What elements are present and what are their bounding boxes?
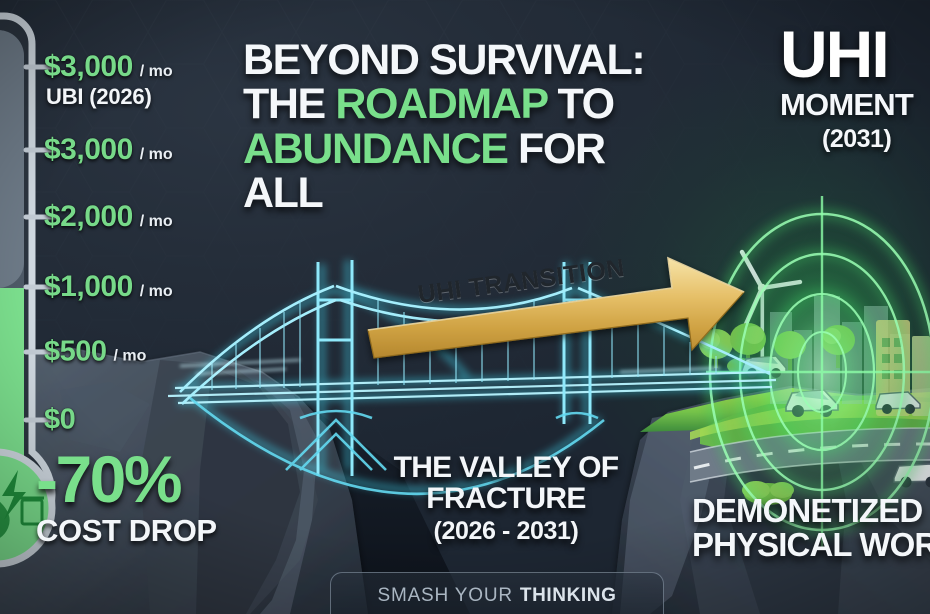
headline-line-2-pre: THE xyxy=(243,80,335,128)
uhi-moment-block: UHI MOMENT (2031) xyxy=(780,24,930,154)
footer-brand-plaque: SMASH YOUR THINKING xyxy=(330,572,664,614)
cost-drop-percent: -70% xyxy=(36,448,276,511)
gauge-tick-label-2: $2,000 / mo xyxy=(44,200,173,234)
gauge-tick-unit: / mo xyxy=(140,63,173,81)
cost-drop-block: -70% COST DROP xyxy=(36,448,276,549)
headline-line-4: ALL xyxy=(243,171,713,215)
gauge-tick-label-1: $3,000 / mo xyxy=(44,133,173,167)
gauge-tick-amount: $500 xyxy=(44,336,107,369)
gauge-tick-amount: $3,000 xyxy=(44,133,133,167)
footer-brand-light: SMASH YOUR xyxy=(377,585,512,607)
demonetized-caption: DEMONETIZED PHYSICAL WORLD xyxy=(692,494,930,561)
gauge-tick-label-3: $1,000 / mo xyxy=(44,270,173,304)
gauge-tick-label-5: $0 xyxy=(44,404,75,437)
headline-line-2-post: TO xyxy=(547,80,614,128)
gauge-tick-label-0: $3,000 / mo xyxy=(44,50,173,84)
gauge-tick-unit: / mo xyxy=(140,146,173,164)
uhi-moment-subtitle: MOMENT xyxy=(780,87,930,123)
uhi-moment-title: UHI xyxy=(780,24,930,85)
valley-line-2: FRACTURE xyxy=(356,483,656,514)
headline-line-3-post: FOR xyxy=(508,125,605,173)
valley-of-fracture-caption: THE VALLEY OF FRACTURE (2026 - 2031) xyxy=(356,452,656,546)
gauge-tick-amount: $2,000 xyxy=(44,200,133,234)
headline-accent-abundance: ABUNDANCE xyxy=(243,125,508,173)
headline-line-2: THE ROADMAP TO xyxy=(243,82,713,126)
gauge-tick-unit: / mo xyxy=(140,283,173,301)
demonetized-line-2: PHYSICAL WORLD xyxy=(692,528,930,562)
gauge-tick-unit: / mo xyxy=(114,348,147,366)
gauge-tick-label-4: $500 / mo xyxy=(44,336,146,369)
uhi-moment-year: (2031) xyxy=(822,125,930,154)
gauge-tick-amount: $1,000 xyxy=(44,270,133,304)
valley-line-1: THE VALLEY OF xyxy=(356,452,656,483)
gauge-tick-amount: $3,000 xyxy=(44,50,133,84)
valley-year-range: (2026 - 2031) xyxy=(356,517,656,546)
headline-line-1: BEYOND SURVIVAL: xyxy=(243,38,713,82)
infographic-poster: $ $3,000 / mo UBI (2026) $3,000 xyxy=(0,0,930,614)
page-title: BEYOND SURVIVAL: THE ROADMAP TO ABUNDANC… xyxy=(243,38,713,215)
gauge-tick-amount: $0 xyxy=(44,404,75,437)
cost-drop-label: COST DROP xyxy=(36,513,276,549)
headline-line-3: ABUNDANCE FOR xyxy=(243,127,713,171)
footer-brand-bold: THINKING xyxy=(520,585,617,607)
gauge-tick-unit: / mo xyxy=(140,213,173,231)
demonetized-line-1: DEMONETIZED xyxy=(692,494,930,528)
gauge-tick-sublabel-ubi: UBI (2026) xyxy=(46,84,152,110)
headline-accent-roadmap: ROADMAP xyxy=(335,80,547,128)
